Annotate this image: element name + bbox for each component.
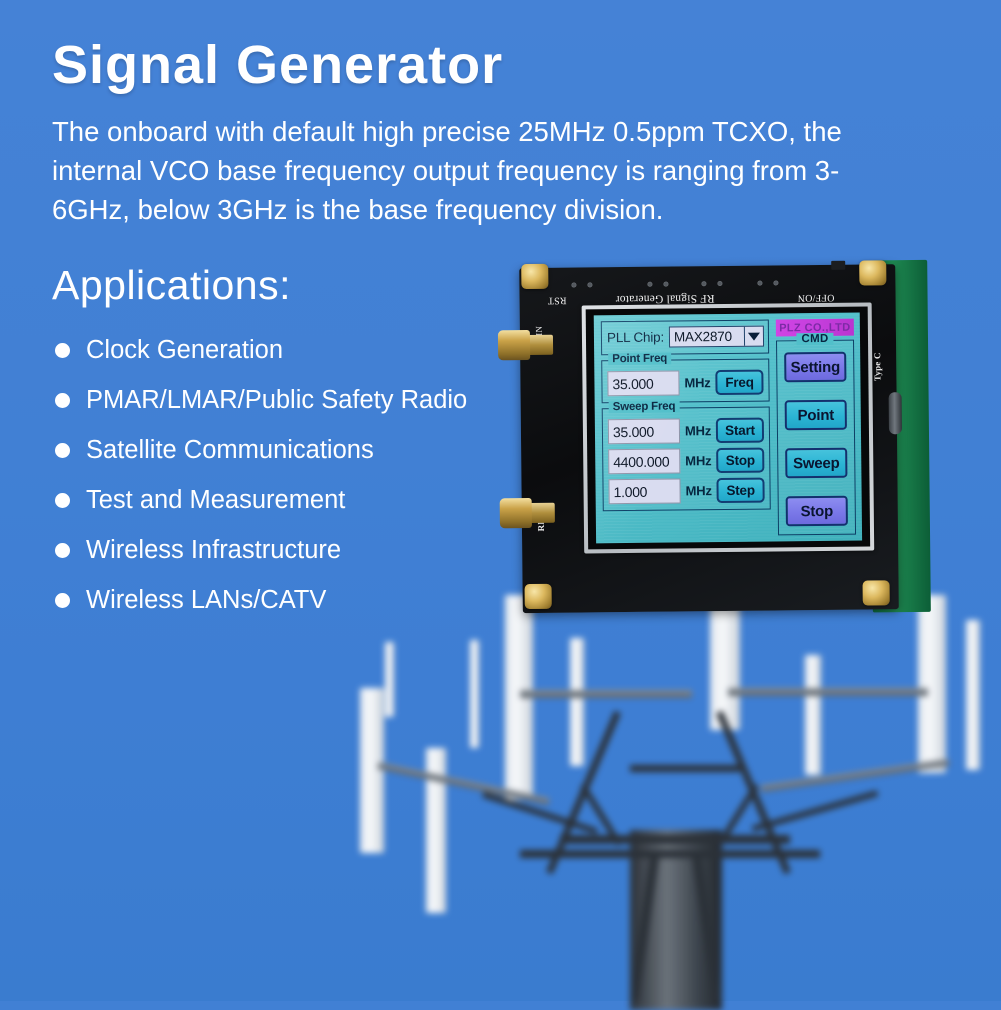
- sweep-step-input[interactable]: 1.000: [608, 478, 680, 504]
- applications-list: Clock Generation PMAR/LMAR/Public Safety…: [55, 325, 467, 625]
- list-item-label: Clock Generation: [86, 336, 283, 365]
- point-freq-unit: MHz: [684, 375, 710, 390]
- sweep-stop-unit: MHz: [685, 453, 711, 468]
- bullet-icon: [55, 393, 70, 408]
- silkscreen-rst-label: RST: [548, 295, 567, 306]
- panel-antenna: [805, 655, 821, 775]
- sweep-freq-group: Sweep Freq 35.000 MHz Start 4400.000 MHz…: [602, 407, 771, 512]
- sweep-start-unit: MHz: [685, 423, 711, 438]
- tower-lattice: [520, 850, 820, 858]
- tower-crossarm: [760, 759, 949, 792]
- pcb-black-board: RST RF Signal Generator OFF/ON Type C RF…: [519, 264, 899, 613]
- point-freq-legend: Point Freq: [608, 353, 671, 366]
- silkscreen-title-label: RF Signal Generator: [616, 292, 715, 305]
- solder-pad: [757, 281, 762, 286]
- bullet-icon: [55, 343, 70, 358]
- lcd-border: PLL Chip: MAX2870 Point Freq: [586, 306, 870, 549]
- pll-chip-selector-group: PLL Chip: MAX2870: [601, 320, 769, 356]
- list-item: Test and Measurement: [55, 475, 467, 525]
- panel-antenna: [360, 688, 384, 853]
- sweep-button[interactable]: Sweep: [785, 448, 847, 479]
- pll-chip-dropdown[interactable]: MAX2870: [669, 326, 764, 348]
- sweep-stop-input[interactable]: 4400.000: [608, 448, 680, 474]
- sweep-stop-row: 4400.000 MHz Stop: [608, 448, 764, 475]
- solder-pad: [647, 282, 652, 287]
- sweep-freq-legend: Sweep Freq: [609, 400, 680, 413]
- step-button[interactable]: Step: [717, 478, 765, 503]
- sweep-start-row: 35.000 MHz Start: [608, 418, 764, 445]
- silkscreen-power-label: OFF/ON: [798, 292, 835, 303]
- pll-chip-label: PLL Chip:: [607, 330, 664, 346]
- cmd-group: CMD Setting Point Sweep Stop: [776, 340, 856, 536]
- point-freq-input[interactable]: 35.000: [607, 370, 679, 396]
- freq-button[interactable]: Freq: [715, 370, 763, 395]
- list-item-label: PMAR/LMAR/Public Safety Radio: [86, 386, 467, 415]
- list-item-label: Wireless LANs/CATV: [86, 586, 326, 615]
- lcd-screen: PLL Chip: MAX2870 Point Freq: [594, 313, 862, 544]
- cell-tower-photo: [330, 600, 1001, 1001]
- list-item: PMAR/LMAR/Public Safety Radio: [55, 375, 467, 425]
- list-item: Satellite Communications: [55, 425, 467, 475]
- tower-lattice: [630, 765, 740, 772]
- setting-button[interactable]: Setting: [784, 352, 846, 383]
- point-button[interactable]: Point: [785, 400, 847, 431]
- usb-type-c-port: [889, 392, 902, 434]
- list-item-label: Wireless Infrastructure: [86, 536, 341, 565]
- silkscreen-typec-label: Type C: [872, 352, 882, 381]
- list-item-label: Satellite Communications: [86, 436, 374, 465]
- panel-antenna: [570, 638, 584, 766]
- solder-pad: [571, 283, 576, 288]
- tower-crossarm: [520, 690, 692, 698]
- solder-pad: [663, 282, 668, 287]
- bullet-icon: [55, 493, 70, 508]
- start-button[interactable]: Start: [716, 418, 764, 443]
- chevron-down-icon[interactable]: [744, 327, 763, 346]
- bullet-icon: [55, 593, 70, 608]
- list-item: Clock Generation: [55, 325, 467, 375]
- corner-standoff: [863, 580, 890, 605]
- solder-pad: [773, 280, 778, 285]
- point-freq-row: 35.000 MHz Freq: [607, 370, 763, 397]
- panel-antenna: [710, 595, 740, 730]
- sma-connector-rf-out: [500, 496, 554, 531]
- power-switch[interactable]: [831, 261, 845, 270]
- tower-crossarm: [728, 688, 928, 696]
- pll-chip-value: MAX2870: [674, 329, 744, 345]
- tower-lattice: [752, 790, 879, 832]
- solder-pad: [587, 282, 592, 287]
- corner-standoff: [521, 264, 548, 289]
- page-title: Signal Generator: [52, 34, 503, 96]
- corner-standoff: [525, 584, 552, 609]
- sweep-step-unit: MHz: [685, 483, 711, 498]
- stop-button[interactable]: Stop: [716, 448, 764, 473]
- sma-connector-rf-in: [498, 328, 552, 363]
- bullet-icon: [55, 443, 70, 458]
- list-item: Wireless LANs/CATV: [55, 575, 467, 625]
- screen-left-column: PLL Chip: MAX2870 Point Freq: [601, 320, 771, 538]
- panel-antenna: [918, 595, 946, 773]
- list-item: Wireless Infrastructure: [55, 525, 467, 575]
- rf-signal-generator-device: RST RF Signal Generator OFF/ON Type C RF…: [511, 256, 935, 615]
- list-item-label: Test and Measurement: [86, 486, 345, 515]
- tower-lattice: [560, 835, 790, 844]
- cmd-legend: CMD: [796, 333, 833, 345]
- screen-right-column: PLZ CO.,LTD CMD Setting Point Sweep Stop: [776, 319, 856, 536]
- panel-antenna: [385, 642, 394, 717]
- solder-pad: [701, 281, 706, 286]
- point-freq-group: Point Freq 35.000 MHz Freq: [601, 359, 769, 404]
- solder-pad: [717, 281, 722, 286]
- bullet-icon: [55, 543, 70, 558]
- lcd-bezel: PLL Chip: MAX2870 Point Freq: [582, 302, 875, 553]
- sweep-step-row: 1.000 MHz Step: [608, 478, 764, 505]
- sweep-start-input[interactable]: 35.000: [608, 418, 680, 444]
- applications-heading: Applications:: [52, 262, 291, 309]
- corner-standoff: [859, 260, 886, 285]
- panel-antenna: [966, 620, 980, 770]
- panel-antenna: [470, 640, 479, 748]
- cmd-stop-button[interactable]: Stop: [786, 496, 848, 527]
- page-description: The onboard with default high precise 25…: [52, 112, 912, 229]
